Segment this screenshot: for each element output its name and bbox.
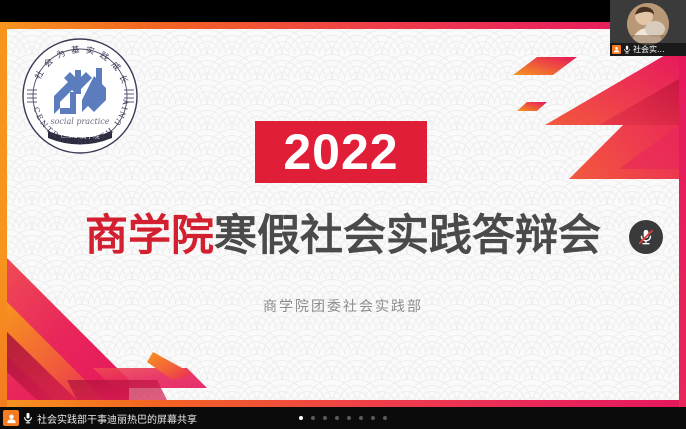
slide-title: 商学院寒假社会实践答辩会 <box>0 214 686 260</box>
user-avatar-glyph <box>6 413 17 424</box>
microphone-icon <box>623 45 631 54</box>
zoom-meeting-window: 社 会 为 基 实 践 成 长 social practice C.S.U 商学… <box>0 0 686 429</box>
slide-border-bottom <box>0 400 686 407</box>
page-dot[interactable] <box>347 416 351 420</box>
slide-title-highlight: 商学院 <box>85 211 214 261</box>
slide-border-right <box>679 22 686 407</box>
page-dot[interactable] <box>335 416 339 420</box>
year-badge: 2022 <box>255 121 427 183</box>
avatar-photo-icon <box>627 3 669 45</box>
page-indicator-dots[interactable] <box>299 416 387 420</box>
page-dot[interactable] <box>371 416 375 420</box>
page-dot[interactable] <box>323 416 327 420</box>
microphone-icon[interactable] <box>23 412 33 424</box>
webcam-thumbnail[interactable]: 社会实... <box>610 0 686 56</box>
muted-mic-badge[interactable] <box>629 220 663 254</box>
participant-avatar <box>627 3 669 45</box>
csu-emblem-icon: 社 会 为 基 实 践 成 长 social practice C.S.U 商学… <box>18 34 143 159</box>
page-dot[interactable] <box>311 416 315 420</box>
page-dot[interactable] <box>383 416 387 420</box>
csu-logo: 社 会 为 基 实 践 成 长 social practice C.S.U 商学… <box>18 34 143 159</box>
slide-border-left <box>0 22 7 407</box>
share-taskbar: 社会实践部干事迪丽热巴的屏幕共享 <box>0 407 686 429</box>
webcam-participant-label: 社会实... <box>633 44 665 55</box>
year-text: 2022 <box>283 127 398 177</box>
presenter-badge-icon <box>3 410 19 426</box>
window-top-strip <box>0 0 686 22</box>
share-status-text: 社会实践部干事迪丽热巴的屏幕共享 <box>37 411 197 426</box>
microphone-muted-icon <box>636 227 656 247</box>
presenter-badge-icon <box>612 45 621 54</box>
page-dot[interactable] <box>299 416 303 420</box>
page-dot[interactable] <box>359 416 363 420</box>
logo-script-text: social practice <box>50 117 109 126</box>
slide-subtitle: 商学院团委社会实践部 <box>0 296 686 316</box>
slide-title-rest: 寒假社会实践答辩会 <box>214 211 601 261</box>
webcam-label-bar: 社会实... <box>610 43 686 56</box>
slide-border-top <box>0 22 686 29</box>
user-avatar-glyph <box>613 46 620 53</box>
shared-screen-slide[interactable]: 社 会 为 基 实 践 成 长 social practice C.S.U 商学… <box>0 22 686 407</box>
taskbar-left-group: 社会实践部干事迪丽热巴的屏幕共享 <box>0 410 197 426</box>
